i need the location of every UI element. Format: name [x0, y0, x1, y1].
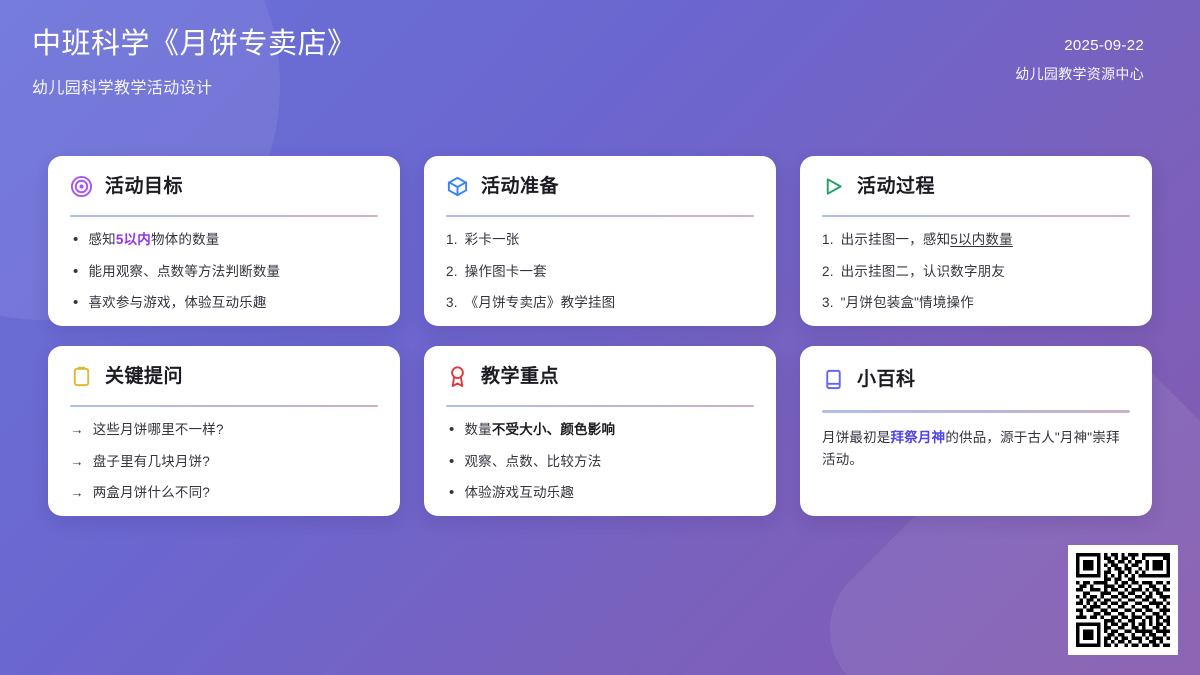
- award-icon: [446, 365, 469, 388]
- card-divider: [70, 405, 378, 407]
- list-item: •数量不受大小、颜色影响: [446, 421, 754, 439]
- list-marker: 1.: [822, 231, 834, 249]
- list-marker: •: [70, 294, 78, 312]
- list-marker: •: [446, 484, 454, 502]
- list-marker: 1.: [446, 231, 458, 249]
- card-list: →这些月饼哪里不一样?→盘子里有几块月饼?→两盒月饼什么不同?: [70, 421, 378, 502]
- list-item-text: 盘子里有几块月饼?: [93, 453, 378, 471]
- card-header: 小百科: [822, 364, 1130, 394]
- card-title: 教学重点: [481, 367, 559, 386]
- list-item-text: 这些月饼哪里不一样?: [93, 421, 378, 439]
- header-date: 2025-09-22: [1015, 35, 1144, 58]
- list-marker: 2.: [822, 263, 834, 281]
- list-marker: •: [70, 263, 78, 281]
- card-divider: [446, 215, 754, 217]
- card-header: 教学重点: [446, 364, 754, 389]
- card-divider: [822, 215, 1130, 217]
- list-marker: 3.: [822, 294, 834, 312]
- list-item: •感知5以内物体的数量: [70, 231, 378, 249]
- list-item-text: 体验游戏互动乐趣: [464, 484, 754, 502]
- emphasis-text: 不受大小、颜色影响: [492, 422, 615, 437]
- play-triangle-icon: [822, 175, 845, 198]
- card-body: →这些月饼哪里不一样?→盘子里有几块月饼?→两盒月饼什么不同?: [70, 421, 378, 502]
- card-body: 1.出示挂图一，感知5以内数量2.出示挂图二，认识数字朋友3."月饼包装盒"情境…: [822, 231, 1130, 312]
- card-body: •数量不受大小、颜色影响•观察、点数、比较方法•体验游戏互动乐趣: [446, 421, 754, 502]
- list-marker: 3.: [446, 294, 458, 312]
- card-list: •感知5以内物体的数量•能用观察、点数等方法判断数量•喜欢参与游戏，体验互动乐趣: [70, 231, 378, 312]
- list-item: →这些月饼哪里不一样?: [70, 421, 378, 439]
- card-header: 活动准备: [446, 174, 754, 199]
- card-title: 小百科: [857, 370, 916, 389]
- card-header: 活动过程: [822, 174, 1130, 199]
- list-marker: •: [446, 453, 454, 471]
- card-teaching-focus: 教学重点•数量不受大小、颜色影响•观察、点数、比较方法•体验游戏互动乐趣: [424, 346, 776, 516]
- card-divider: [822, 410, 1130, 413]
- list-item-text: 感知5以内物体的数量: [88, 231, 378, 249]
- clipboard-icon: [70, 365, 93, 388]
- list-item: •能用观察、点数等方法判断数量: [70, 263, 378, 281]
- card-list: •数量不受大小、颜色影响•观察、点数、比较方法•体验游戏互动乐趣: [446, 421, 754, 502]
- card-header: 活动目标: [70, 174, 378, 199]
- card-title: 活动目标: [105, 177, 183, 196]
- qr-code[interactable]: [1068, 545, 1178, 655]
- card-list: 1.彩卡一张2.操作图卡一套3.《月饼专卖店》教学挂图: [446, 231, 754, 312]
- list-marker: →: [70, 453, 84, 471]
- card-title: 活动过程: [857, 177, 935, 196]
- list-item: →两盒月饼什么不同?: [70, 484, 378, 502]
- list-item: •喜欢参与游戏，体验互动乐趣: [70, 294, 378, 312]
- list-marker: 2.: [446, 263, 458, 281]
- header-organization: 幼儿园教学资源中心: [1015, 64, 1144, 84]
- card-header: 关键提问: [70, 364, 378, 389]
- list-item: •体验游戏互动乐趣: [446, 484, 754, 502]
- book-icon: [822, 368, 845, 391]
- card-body: 1.彩卡一张2.操作图卡一套3.《月饼专卖店》教学挂图: [446, 231, 754, 312]
- list-item-text: 喜欢参与游戏，体验互动乐趣: [88, 294, 378, 312]
- card-body: 月饼最初是拜祭月神的供品，源于古人"月神"崇拜活动。: [822, 427, 1130, 502]
- cube-icon: [446, 175, 469, 198]
- list-item: 3.《月饼专卖店》教学挂图: [446, 294, 754, 312]
- list-marker: →: [70, 484, 84, 502]
- card-title: 活动准备: [481, 177, 559, 196]
- card-body: •感知5以内物体的数量•能用观察、点数等方法判断数量•喜欢参与游戏，体验互动乐趣: [70, 231, 378, 312]
- list-marker: →: [70, 421, 84, 439]
- list-item: 2.出示挂图二，认识数字朋友: [822, 263, 1130, 281]
- list-item-text: 出示挂图一，感知5以内数量: [841, 231, 1130, 249]
- list-marker: •: [70, 231, 78, 249]
- list-item-text: 能用观察、点数等方法判断数量: [88, 263, 378, 281]
- page-title: 中班科学《月饼专卖店》: [32, 26, 357, 62]
- page-subtitle: 幼儿园科学教学活动设计: [32, 74, 357, 98]
- list-marker: •: [446, 421, 454, 439]
- slide-header: 中班科学《月饼专卖店》 幼儿园科学教学活动设计 2025-09-22 幼儿园教学…: [0, 0, 1200, 150]
- card-divider: [70, 215, 378, 217]
- header-left-group: 中班科学《月饼专卖店》 幼儿园科学教学活动设计: [32, 26, 357, 98]
- list-item-text: 观察、点数、比较方法: [464, 453, 754, 471]
- card-objectives: 活动目标•感知5以内物体的数量•能用观察、点数等方法判断数量•喜欢参与游戏，体验…: [48, 156, 400, 326]
- qr-code-matrix: [1076, 553, 1170, 647]
- card-encyclopedia: 小百科月饼最初是拜祭月神的供品，源于古人"月神"崇拜活动。: [800, 346, 1152, 516]
- slide-root: 中班科学《月饼专卖店》 幼儿园科学教学活动设计 2025-09-22 幼儿园教学…: [0, 0, 1200, 675]
- header-right-group: 2025-09-22 幼儿园教学资源中心: [1015, 26, 1144, 84]
- emphasis-text: 5以内: [116, 232, 151, 247]
- card-preparation: 活动准备1.彩卡一张2.操作图卡一套3.《月饼专卖店》教学挂图: [424, 156, 776, 326]
- list-item: 1.出示挂图一，感知5以内数量: [822, 231, 1130, 249]
- card-key-questions: 关键提问→这些月饼哪里不一样?→盘子里有几块月饼?→两盒月饼什么不同?: [48, 346, 400, 516]
- emphasis-text: 5以内数量: [950, 232, 1013, 247]
- list-item-text: 数量不受大小、颜色影响: [464, 421, 754, 439]
- card-list: 1.出示挂图一，感知5以内数量2.出示挂图二，认识数字朋友3."月饼包装盒"情境…: [822, 231, 1130, 312]
- list-item: 1.彩卡一张: [446, 231, 754, 249]
- list-item-text: 彩卡一张: [465, 231, 754, 249]
- list-item-text: 出示挂图二，认识数字朋友: [841, 263, 1130, 281]
- list-item-text: 《月饼专卖店》教学挂图: [465, 294, 754, 312]
- list-item: →盘子里有几块月饼?: [70, 453, 378, 471]
- list-item: 3."月饼包装盒"情境操作: [822, 294, 1130, 312]
- list-item: 2.操作图卡一套: [446, 263, 754, 281]
- card-grid: 活动目标•感知5以内物体的数量•能用观察、点数等方法判断数量•喜欢参与游戏，体验…: [48, 156, 1152, 516]
- emphasis-text: 拜祭月神: [891, 430, 946, 445]
- list-item: •观察、点数、比较方法: [446, 453, 754, 471]
- card-process: 活动过程1.出示挂图一，感知5以内数量2.出示挂图二，认识数字朋友3."月饼包装…: [800, 156, 1152, 326]
- target-icon: [70, 175, 93, 198]
- list-item-text: 操作图卡一套: [465, 263, 754, 281]
- card-divider: [446, 405, 754, 407]
- list-item-text: 两盒月饼什么不同?: [93, 484, 378, 502]
- list-item-text: "月饼包装盒"情境操作: [841, 294, 1130, 312]
- card-paragraph: 月饼最初是拜祭月神的供品，源于古人"月神"崇拜活动。: [822, 427, 1130, 471]
- card-title: 关键提问: [105, 367, 183, 386]
